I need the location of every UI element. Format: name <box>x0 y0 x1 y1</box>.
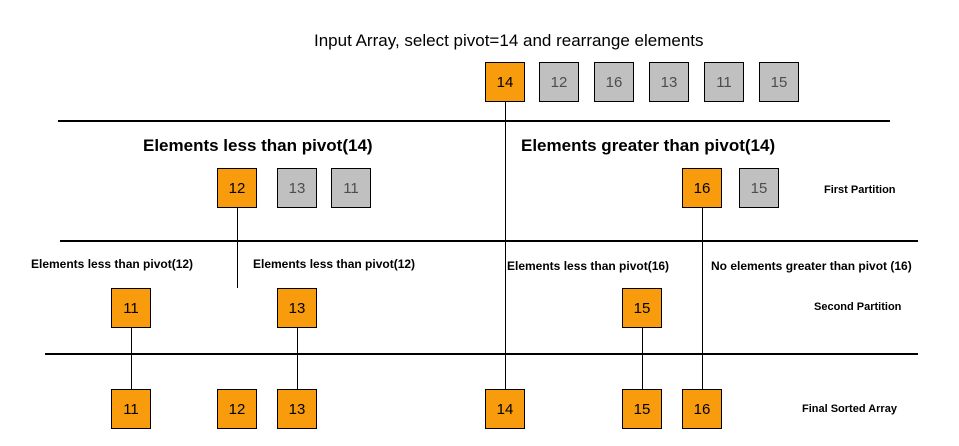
quicksort-partition-diagram: Input Array, select pivot=14 and rearran… <box>0 0 959 446</box>
partition-sublabel: No elements greater than pivot (16) <box>711 259 912 273</box>
input-array-box: 11 <box>704 62 744 102</box>
first-partition-box: 13 <box>277 168 317 208</box>
first-partition-box: 15 <box>739 168 779 208</box>
first-partition-box: 16 <box>682 168 722 208</box>
partition-sublabel: Elements less than pivot(12) <box>253 257 415 271</box>
input-array-box: 13 <box>649 62 689 102</box>
stage-label-first-partition: First Partition <box>824 184 896 196</box>
input-array-box: 16 <box>594 62 634 102</box>
final-sorted-box: 13 <box>277 389 317 429</box>
first-partition-box: 12 <box>217 168 257 208</box>
final-sorted-box: 11 <box>111 389 151 429</box>
divider-line <box>58 120 890 122</box>
final-sorted-box: 12 <box>217 389 257 429</box>
section-heading-less-than-pivot: Elements less than pivot(14) <box>143 136 373 156</box>
partition-sublabel: Elements less than pivot(16) <box>507 259 669 273</box>
input-array-box: 14 <box>485 62 525 102</box>
section-heading-greater-than-pivot: Elements greater than pivot(14) <box>521 136 775 156</box>
connector-line <box>702 208 703 389</box>
final-sorted-box: 15 <box>622 389 662 429</box>
input-array-box: 12 <box>539 62 579 102</box>
input-array-box: 15 <box>759 62 799 102</box>
final-sorted-box: 14 <box>485 389 525 429</box>
connector-line <box>642 328 643 389</box>
final-sorted-box: 16 <box>682 389 722 429</box>
stage-label-second-partition: Second Partition <box>814 301 901 313</box>
divider-line <box>60 240 918 242</box>
page-title: Input Array, select pivot=14 and rearran… <box>314 31 704 51</box>
connector-line <box>297 328 298 389</box>
connector-line <box>237 208 238 288</box>
second-partition-box: 15 <box>622 288 662 328</box>
first-partition-box: 11 <box>331 168 371 208</box>
second-partition-box: 13 <box>277 288 317 328</box>
stage-label-final-sorted-array: Final Sorted Array <box>802 403 897 415</box>
connector-line <box>505 102 506 389</box>
divider-line <box>45 353 918 355</box>
connector-line <box>131 328 132 389</box>
partition-sublabel: Elements less than pivot(12) <box>31 257 193 271</box>
second-partition-box: 11 <box>111 288 151 328</box>
